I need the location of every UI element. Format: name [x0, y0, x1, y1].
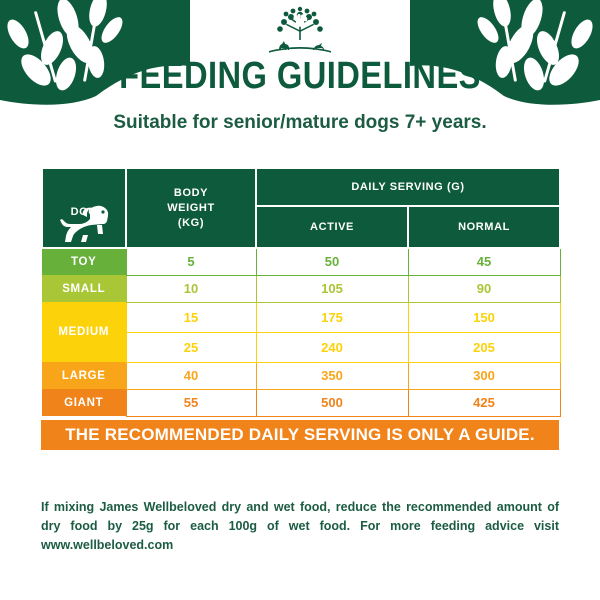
table-row: LARGE 40 350 300	[42, 362, 560, 389]
cell-normal-large: 300	[408, 362, 560, 389]
header-cell-dog: DOG	[42, 168, 126, 248]
feeding-table-wrapper: DOG BODY	[41, 167, 559, 450]
header: FEEDING GUIDELINES Suitable for senior/m…	[0, 0, 600, 150]
cell-active-large: 350	[256, 362, 408, 389]
page-subtitle: Suitable for senior/mature dogs 7+ years…	[0, 112, 600, 134]
feeding-guidelines-infographic: FEEDING GUIDELINES Suitable for senior/m…	[0, 0, 600, 600]
table-body: TOY 5 50 45 SMALL 10 105 90 MEDIUM 15 17…	[42, 248, 560, 416]
row-category-giant: GIANT	[42, 389, 126, 416]
header-cell-active: ACTIVE	[256, 206, 408, 248]
header-label-weight-1: BODY	[174, 187, 208, 199]
cell-weight-toy: 5	[126, 248, 256, 275]
table-head: DOG BODY	[42, 168, 560, 248]
header-cell-body-weight: BODY WEIGHT (KG)	[126, 168, 256, 248]
header-label-weight-2: WEIGHT	[167, 202, 215, 214]
cell-weight-large: 40	[126, 362, 256, 389]
cell-normal-medium-2: 205	[408, 332, 560, 362]
row-category-large: LARGE	[42, 362, 126, 389]
footnote-text: If mixing James Wellbeloved dry and wet …	[41, 498, 559, 555]
page-title: FEEDING GUIDELINES	[42, 56, 558, 96]
cell-active-giant: 500	[256, 389, 408, 416]
cell-normal-giant: 425	[408, 389, 560, 416]
cell-active-medium-2: 240	[256, 332, 408, 362]
cell-weight-medium-1: 15	[126, 302, 256, 332]
cell-weight-small: 10	[126, 275, 256, 302]
cell-normal-medium-1: 150	[408, 302, 560, 332]
row-category-toy: TOY	[42, 248, 126, 275]
header-cell-daily-serving: DAILY SERVING (G)	[256, 168, 560, 206]
header-label-weight-3: (KG)	[178, 217, 204, 229]
cell-weight-giant: 55	[126, 389, 256, 416]
guide-banner: THE RECOMMENDED DAILY SERVING IS ONLY A …	[41, 420, 559, 450]
table-row: GIANT 55 500 425	[42, 389, 560, 416]
cell-normal-small: 90	[408, 275, 560, 302]
tree-paw-logo	[257, 6, 343, 60]
cell-weight-medium-2: 25	[126, 332, 256, 362]
header-cell-normal: NORMAL	[408, 206, 560, 248]
cell-active-toy: 50	[256, 248, 408, 275]
cell-active-small: 105	[256, 275, 408, 302]
table-row: TOY 5 50 45	[42, 248, 560, 275]
row-category-medium: MEDIUM	[42, 302, 126, 362]
dog-silhouette-icon	[53, 201, 115, 245]
feeding-table: DOG BODY	[41, 167, 561, 417]
table-row: MEDIUM 15 175 150	[42, 302, 560, 332]
cell-normal-toy: 45	[408, 248, 560, 275]
row-category-small: SMALL	[42, 275, 126, 302]
cell-active-medium-1: 175	[256, 302, 408, 332]
table-row: SMALL 10 105 90	[42, 275, 560, 302]
